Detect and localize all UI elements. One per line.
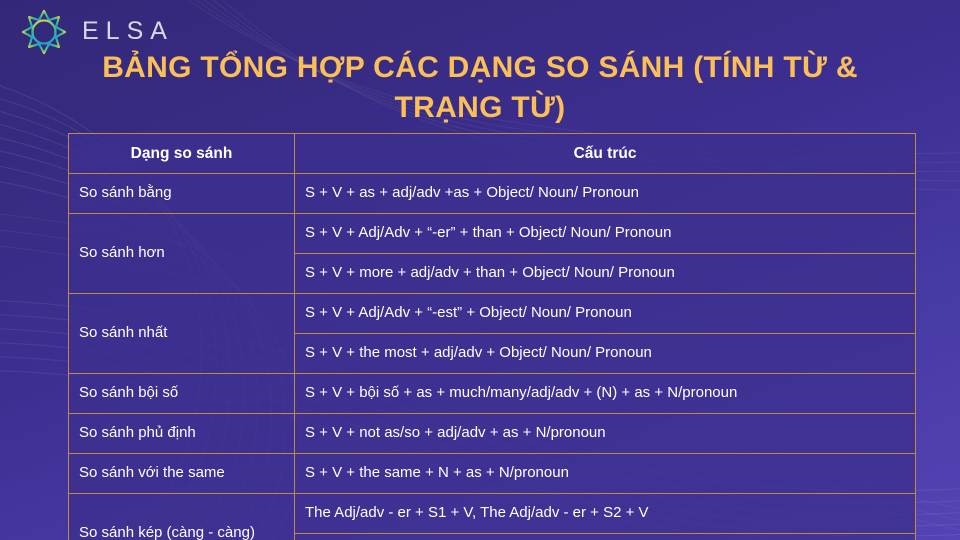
table-header-row: Dạng so sánh Cấu trúc — [69, 134, 916, 174]
row-structure: The Adj/adv - er + S1 + V, The Adj/adv -… — [295, 494, 916, 534]
row-structure: S + V + not as/so + adj/adv + as + N/pro… — [295, 414, 916, 454]
row-structure: S + V + Adj/Adv + “-est” + Object/ Noun/… — [295, 294, 916, 334]
row-label-so-sanh-bang: So sánh bằng — [69, 174, 295, 214]
page-title: BẢNG TỔNG HỢP CÁC DẠNG SO SÁNH (TÍNH TỪ … — [80, 48, 880, 128]
row-structure: S + V + the same + N + as + N/pronoun — [295, 454, 916, 494]
comparison-table-container: Dạng so sánh Cấu trúc So sánh bằng S + V… — [68, 133, 915, 540]
row-label-so-sanh-kep: So sánh kép (càng - càng) — [69, 494, 295, 540]
row-structure: S + V + Adj/Adv + “-er” + than + Object/… — [295, 214, 916, 254]
row-label-so-sanh-hon: So sánh hơn — [69, 214, 295, 294]
brand-name: ELSA — [82, 19, 174, 46]
table-row: So sánh bội số S + V + bội số + as + muc… — [69, 374, 916, 414]
row-structure: The more + Adj/adv + S1 + V, The more + … — [295, 534, 916, 540]
row-label-so-sanh-phu-dinh: So sánh phủ định — [69, 414, 295, 454]
table-row: So sánh hơn S + V + Adj/Adv + “-er” + th… — [69, 214, 916, 254]
table-row: So sánh phủ định S + V + not as/so + adj… — [69, 414, 916, 454]
table-row: So sánh với the same S + V + the same + … — [69, 454, 916, 494]
row-structure: S + V + bội số + as + much/many/adj/adv … — [295, 374, 916, 414]
table-body: So sánh bằng S + V + as + adj/adv +as + … — [69, 174, 916, 540]
elsa-flower-logo-icon — [18, 6, 70, 58]
row-structure: S + V + the most + adj/adv + Object/ Nou… — [295, 334, 916, 374]
row-label-so-sanh-nhat: So sánh nhất — [69, 294, 295, 374]
row-label-so-sanh-boi-so: So sánh bội số — [69, 374, 295, 414]
table-row: So sánh nhất S + V + Adj/Adv + “-est” + … — [69, 294, 916, 334]
page-title-line-1: BẢNG TỔNG HỢP CÁC DẠNG SO SÁNH (TÍNH TỪ … — [80, 48, 880, 88]
comparison-table: Dạng so sánh Cấu trúc So sánh bằng S + V… — [68, 133, 916, 540]
row-structure: S + V + as + adj/adv +as + Object/ Noun/… — [295, 174, 916, 214]
column-header-structure: Cấu trúc — [295, 134, 916, 174]
page-title-line-2: TRẠNG TỪ) — [80, 88, 880, 128]
row-structure: S + V + more + adj/adv + than + Object/ … — [295, 254, 916, 294]
column-header-comparison-type: Dạng so sánh — [69, 134, 295, 174]
row-label-so-sanh-voi-the-same: So sánh với the same — [69, 454, 295, 494]
table-row: So sánh kép (càng - càng) The Adj/adv - … — [69, 494, 916, 534]
table-row: So sánh bằng S + V + as + adj/adv +as + … — [69, 174, 916, 214]
